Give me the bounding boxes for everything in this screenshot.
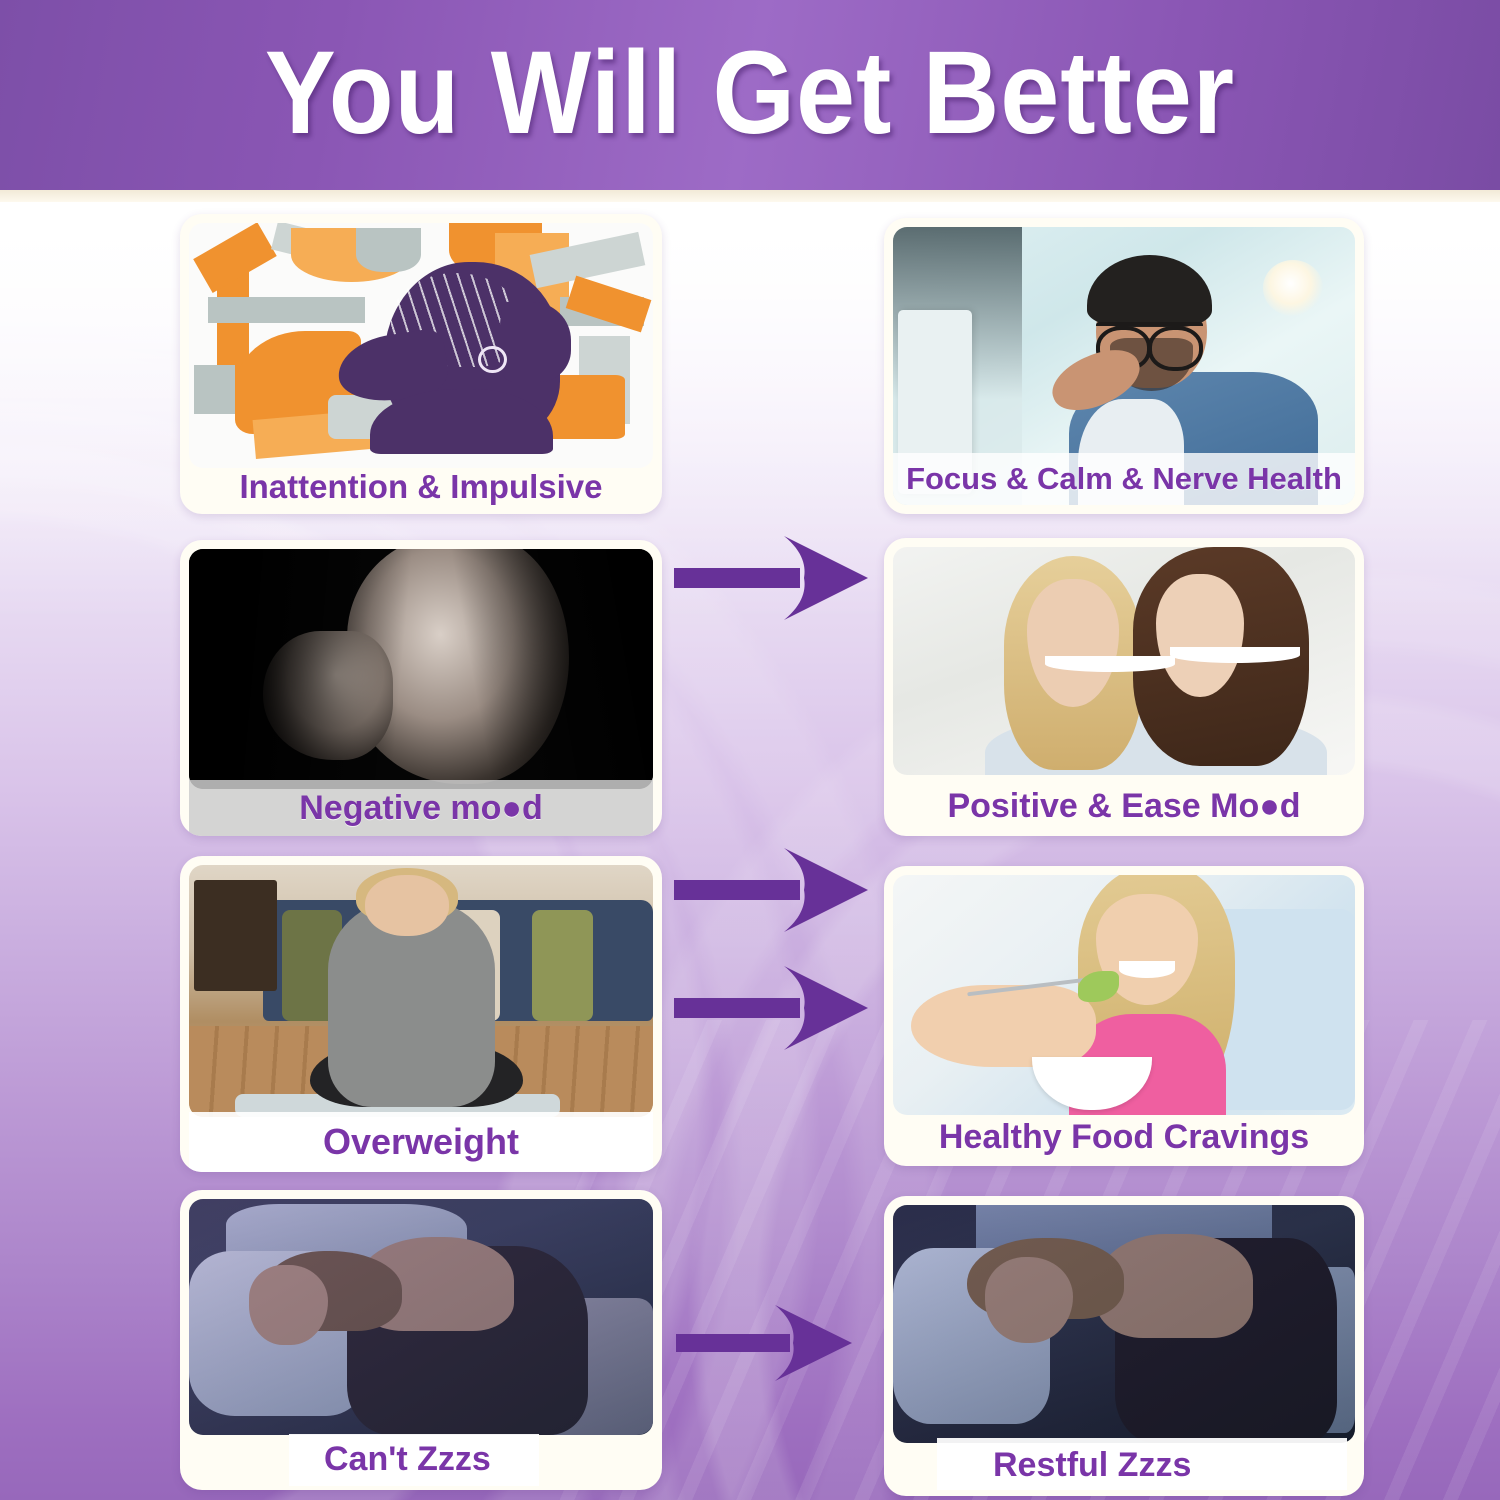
header-divider-strip xyxy=(0,190,1500,202)
sleeping-woman-photo xyxy=(893,1205,1355,1443)
card-photo xyxy=(893,1205,1355,1443)
card-label: Inattention & Impulsive xyxy=(239,468,602,506)
card-label: Focus & Calm & Nerve Health xyxy=(906,461,1342,497)
two-smiling-women-photo xyxy=(893,547,1355,775)
card-label-bar: Can't Zzzs xyxy=(189,1428,653,1490)
head-silhouette-icon xyxy=(384,262,560,443)
card-after-row4[interactable]: Restful Zzzs xyxy=(884,1196,1364,1496)
sad-woman-blackandwhite-photo xyxy=(189,549,653,789)
card-photo xyxy=(189,223,653,468)
scattered-arrows-head-illustration xyxy=(189,223,653,468)
card-photo xyxy=(189,1199,653,1435)
comparison-grid: Inattention & Impulsive Focus & Calm & N… xyxy=(0,202,1500,1500)
right-arrow-icon xyxy=(672,958,882,1058)
woman-eating-salad-photo xyxy=(893,875,1355,1115)
card-label-bar: Positive & Ease Mo●d xyxy=(893,776,1355,836)
card-before-row1[interactable]: Inattention & Impulsive xyxy=(180,214,662,514)
card-photo xyxy=(189,865,653,1117)
card-label: Overweight xyxy=(323,1121,519,1163)
card-before-row4[interactable]: Can't Zzzs xyxy=(180,1190,662,1490)
card-label-bar: Focus & Calm & Nerve Health xyxy=(893,453,1355,505)
card-label: Negative mo●d xyxy=(299,789,542,828)
card-photo xyxy=(893,547,1355,775)
right-arrow-icon xyxy=(672,528,882,628)
card-before-row3[interactable]: Overweight xyxy=(180,856,662,1172)
infographic-poster: You Will Get Better xyxy=(0,0,1500,1500)
card-label: Can't Zzzs xyxy=(324,1440,491,1479)
card-after-row2[interactable]: Positive & Ease Mo●d xyxy=(884,538,1364,836)
right-arrow-icon xyxy=(674,1298,864,1388)
card-photo xyxy=(893,875,1355,1115)
header-banner: You Will Get Better xyxy=(0,0,1500,190)
card-label: Healthy Food Cravings xyxy=(939,1118,1309,1157)
card-label-bar: Inattention & Impulsive xyxy=(189,459,653,514)
woman-sitting-living-room-photo xyxy=(189,865,653,1117)
card-label-bar: Overweight xyxy=(189,1112,653,1172)
card-label-bar: Negative mo●d xyxy=(189,780,653,836)
awake-woman-in-bed-photo xyxy=(189,1199,653,1435)
card-before-row2[interactable]: Negative mo●d xyxy=(180,540,662,836)
card-photo xyxy=(189,549,653,789)
card-label: Restful Zzzs xyxy=(993,1446,1191,1485)
card-photo: Focus & Calm & Nerve Health xyxy=(893,227,1355,505)
page-title: You Will Get Better xyxy=(265,34,1235,152)
card-after-row3[interactable]: Healthy Food Cravings xyxy=(884,866,1364,1166)
card-label-bar: Healthy Food Cravings xyxy=(893,1108,1355,1166)
card-label-bar: Restful Zzzs xyxy=(893,1434,1355,1496)
card-label: Positive & Ease Mo●d xyxy=(947,787,1300,826)
card-after-row1[interactable]: Focus & Calm & Nerve Health xyxy=(884,218,1364,514)
right-arrow-icon xyxy=(672,840,882,940)
